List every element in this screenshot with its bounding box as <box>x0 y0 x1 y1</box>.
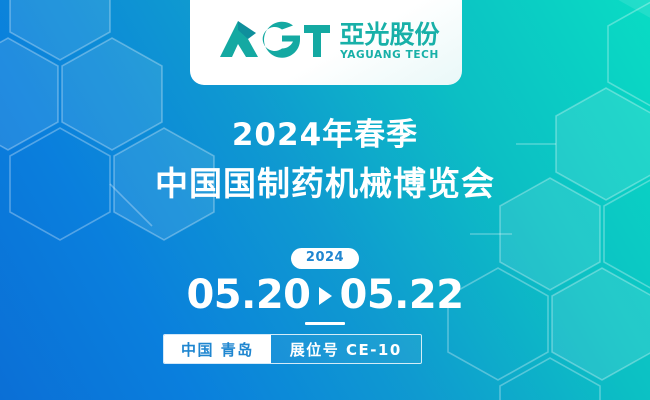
title-block: 2024年春季 中国国制药机械博览会 <box>0 118 650 202</box>
event-season-title: 2024年春季 <box>0 118 650 152</box>
date-range-row: 05.20 05.22 <box>0 275 650 315</box>
date-underline-divider <box>305 322 345 325</box>
date-start: 05.20 <box>186 275 310 315</box>
date-end: 05.22 <box>340 275 464 315</box>
event-main-title: 中国国制药机械博览会 <box>0 166 650 202</box>
logo-chinese-name: 亞光股份 <box>339 22 439 47</box>
arrow-right-icon <box>319 287 332 305</box>
logo-name-block: 亞光股份 YAGUANG TECH <box>339 22 439 61</box>
exhibition-banner: 亞光股份 YAGUANG TECH 2024年春季 中国国制药机械博览会 202… <box>0 0 650 400</box>
year-badge: 2024 <box>291 248 359 269</box>
location-city: 中国 青岛 <box>164 335 271 363</box>
logo-card: 亞光股份 YAGUANG TECH <box>190 0 462 85</box>
agt-logo-icon <box>212 17 330 66</box>
booth-number: 展位号 CE-10 <box>271 335 421 363</box>
location-bar: 中国 青岛 展位号 CE-10 <box>163 334 422 364</box>
logo-inner: 亞光股份 YAGUANG TECH <box>212 17 439 66</box>
date-block: 2024 05.20 05.22 <box>0 248 650 325</box>
logo-english-name: YAGUANG TECH <box>340 50 439 61</box>
